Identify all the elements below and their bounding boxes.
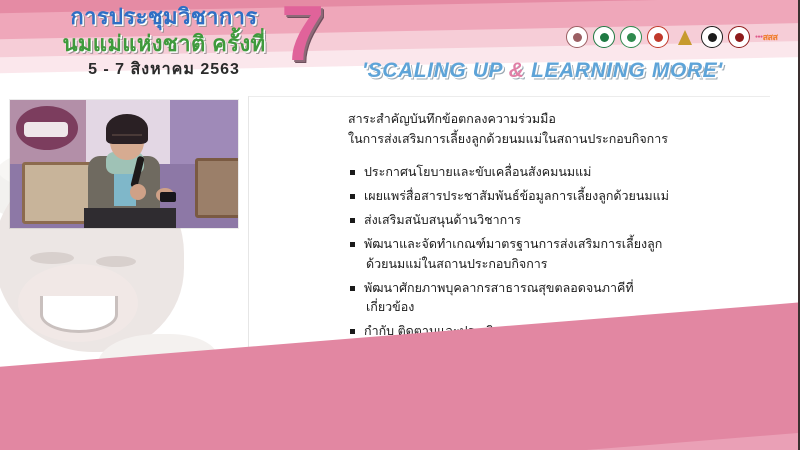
bullet-square-icon — [350, 242, 355, 247]
list-item: ส่งเสริมสนับสนุนด้านวิชาการ — [348, 211, 768, 231]
list-item: พัฒนาและจัดทำเกณฑ์มาตรฐานการส่งเสริมการเ… — [348, 235, 768, 274]
presentation-slide: การประชุมวิชาการ นมแม่แห่งชาติ ครั้งที่ … — [0, 0, 800, 450]
tagline-pre: 'SCALING UP — [362, 59, 509, 82]
logo-gold-royal-crest — [674, 26, 696, 48]
bullet-square-icon — [350, 194, 355, 199]
tagline-ampersand: & — [509, 59, 525, 82]
logo-green-medical-1 — [593, 26, 615, 48]
bullet-text-line2: ด้วยนมแม่ในสถานประกอบกิจการ — [364, 255, 768, 275]
logo-green-medical-2 — [620, 26, 642, 48]
logo-thai-royal-emblem — [566, 26, 588, 48]
list-item: เผยแพร่สื่อสารประชาสัมพันธ์ข้อมูลการเลี้… — [348, 187, 768, 207]
bullet-square-icon — [350, 170, 355, 175]
lead-line-2: ในการส่งเสริมการเลี้ยงลูกด้วยนมแม่ในสถาน… — [348, 130, 768, 150]
sponsor-logo-row: ●●● สสส — [566, 26, 778, 48]
list-item: ประกาศนโยบายและขับเคลื่อนสังคมนมแม่ — [348, 163, 768, 183]
logo-red-orange-seal — [647, 26, 669, 48]
conference-title-block: การประชุมวิชาการ นมแม่แห่งชาติ ครั้งที่ … — [14, 4, 314, 81]
speaker-video-inset[interactable] — [10, 100, 238, 228]
conference-title-line1: การประชุมวิชาการ — [14, 4, 314, 30]
bullet-text: ประกาศนโยบายและขับเคลื่อนสังคมนมแม่ — [364, 165, 591, 179]
content-lead: สาระสำคัญบันทึกข้อตกลงความร่วมมือ ในการส… — [348, 110, 768, 149]
logo-dark-red-seal — [728, 26, 750, 48]
conference-tagline: 'SCALING UP & LEARNING MORE' — [362, 59, 723, 83]
bullet-text: พัฒนาและจัดทำเกณฑ์มาตรฐานการส่งเสริมการเ… — [364, 237, 662, 251]
bullet-text: ส่งเสริมสนับสนุนด้านวิชาการ — [364, 213, 521, 227]
conference-date: 5 - 7 สิงหาคม 2563 — [14, 59, 314, 81]
logo-black-seal — [701, 26, 723, 48]
bullet-square-icon — [350, 286, 355, 291]
lead-line-1: สาระสำคัญบันทึกข้อตกลงความร่วมมือ — [348, 110, 768, 130]
tagline-post: LEARNING MORE' — [525, 59, 723, 82]
bullet-square-icon — [350, 218, 355, 223]
logo-thaihealth-sss: ●●● สสส — [755, 30, 778, 44]
logo-sss-label: สสส — [763, 30, 778, 44]
bullet-text: เผยแพร่สื่อสารประชาสัมพันธ์ข้อมูลการเลี้… — [364, 189, 669, 203]
conference-title-line2: นมแม่แห่งชาติ ครั้งที่ — [14, 30, 314, 57]
bullet-square-icon — [350, 329, 355, 334]
bullet-text: พัฒนาศักยภาพบุคลากรสาธารณสุขตลอดจนภาคีที… — [364, 281, 634, 295]
slide-header: การประชุมวิชาการ นมแม่แห่งชาติ ครั้งที่ … — [0, 0, 800, 96]
edition-number: 7 — [281, 0, 324, 72]
